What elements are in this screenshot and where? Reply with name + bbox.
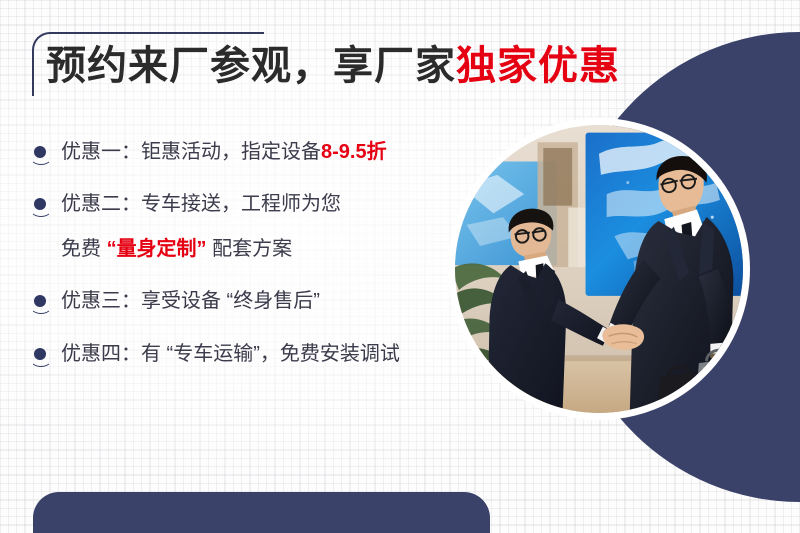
list-item-body: 优惠二：专车接送，工程师为您 免费 “量身定制” 配套方案 [61,190,470,263]
list-item-line: 免费 “量身定制” 配套方案 [61,235,470,263]
circle-arc-bullet-icon [30,144,52,166]
headline-dark-text: 预约来厂参观，享厂家 [46,44,456,88]
list-item-text: 优惠一：钜惠活动，指定设备 [61,141,321,163]
list-item-highlight: “量身定制” [107,238,207,260]
list-item: 优惠四：有 “专车运输”，免费安装调试 [30,340,470,368]
list-item-text-tail: 配套方案 [207,238,293,260]
list-item-line: 优惠三：享受设备 “终身售后” [61,287,470,315]
list-item-text: 优惠三：享受设备 “终身售后” [61,290,320,312]
page-title: 预约来厂参观，享厂家独家优惠 [46,46,620,86]
circle-arc-bullet-icon [30,196,52,218]
list-item-body: 优惠四：有 “专车运输”，免费安装调试 [61,340,470,368]
handshake-businessmen-photo: ted N [448,118,750,420]
list-item-body: 优惠三：享受设备 “终身售后” [61,287,470,315]
circle-arc-bullet-icon [30,346,52,368]
promo-banner: 预约来厂参观，享厂家独家优惠 优惠一：钜惠活动，指定设备8-9.5折 优惠二：专… [0,0,800,533]
navy-bottom-bar-decoration [33,492,490,533]
list-item-line: 优惠二：专车接送，工程师为您 [61,190,470,218]
list-item: 优惠三：享受设备 “终身售后” [30,287,470,315]
list-item: 优惠二：专车接送，工程师为您 免费 “量身定制” 配套方案 [30,190,470,263]
list-item-text: 免费 [61,238,107,260]
photo-scene: ted N [455,125,743,413]
list-item-body: 优惠一：钜惠活动，指定设备8-9.5折 [61,138,470,166]
list-item: 优惠一：钜惠活动，指定设备8-9.5折 [30,138,470,166]
list-item-text: 优惠二：专车接送，工程师为您 [61,193,341,215]
circle-arc-bullet-icon [30,293,52,315]
list-item-text: 优惠四：有 “专车运输”，免费安装调试 [61,343,400,365]
benefits-list: 优惠一：钜惠活动，指定设备8-9.5折 优惠二：专车接送，工程师为您 免费 “量… [30,138,470,392]
list-item-highlight: 8-9.5折 [321,141,387,163]
list-item-line: 优惠一：钜惠活动，指定设备8-9.5折 [61,138,470,166]
headline-highlight-text: 独家优惠 [456,44,620,88]
list-item-line: 优惠四：有 “专车运输”，免费安装调试 [61,340,470,368]
